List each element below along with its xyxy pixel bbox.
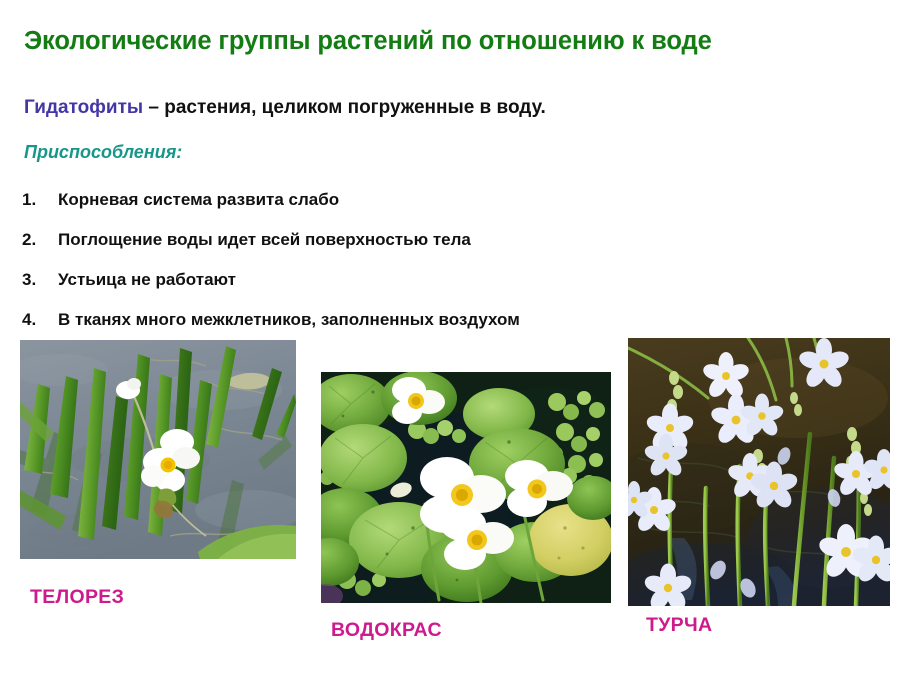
definition-rest: – растения, целиком погруженные в воду. bbox=[143, 97, 546, 118]
list-item: 4. В тканях много межклетников, заполнен… bbox=[22, 300, 882, 340]
list-item-number: 3. bbox=[22, 260, 52, 300]
caption-telorez: ТЕЛОРЕЗ bbox=[30, 586, 124, 609]
list-item: 3. Устьица не работают bbox=[22, 260, 882, 300]
definition-line: Гидатофиты – растения, целиком погруженн… bbox=[24, 97, 894, 119]
slide-canvas: Экологические группы растений по отношен… bbox=[0, 0, 910, 683]
list-item: 1. Корневая система развита слабо bbox=[22, 180, 882, 220]
list-item: 2. Поглощение воды идет всей поверхность… bbox=[22, 220, 882, 260]
photo-telorez-image bbox=[20, 340, 296, 559]
photo-telorez bbox=[20, 340, 296, 559]
page-title: Экологические группы растений по отношен… bbox=[24, 27, 894, 56]
list-item-number: 4. bbox=[22, 300, 52, 340]
photo-turcha bbox=[628, 338, 890, 606]
list-item-number: 2. bbox=[22, 220, 52, 260]
list-item-label: Корневая система развита слабо bbox=[58, 180, 339, 220]
photo-turcha-image bbox=[628, 338, 890, 606]
list-item-label: Устьица не работают bbox=[58, 260, 236, 300]
list-item-label: Поглощение воды идет всей поверхностью т… bbox=[58, 220, 471, 260]
photo-vodokras bbox=[321, 372, 611, 603]
adaptations-list: 1. Корневая система развита слабо 2. Пог… bbox=[22, 180, 882, 340]
definition-term: Гидатофиты bbox=[24, 97, 143, 118]
adaptations-heading: Приспособления: bbox=[24, 142, 182, 163]
caption-turcha: ТУРЧА bbox=[646, 614, 712, 637]
caption-vodokras: ВОДОКРАС bbox=[331, 619, 442, 642]
photo-vodokras-image bbox=[321, 372, 611, 603]
list-item-number: 1. bbox=[22, 180, 52, 220]
list-item-label: В тканях много межклетников, заполненных… bbox=[58, 300, 520, 340]
